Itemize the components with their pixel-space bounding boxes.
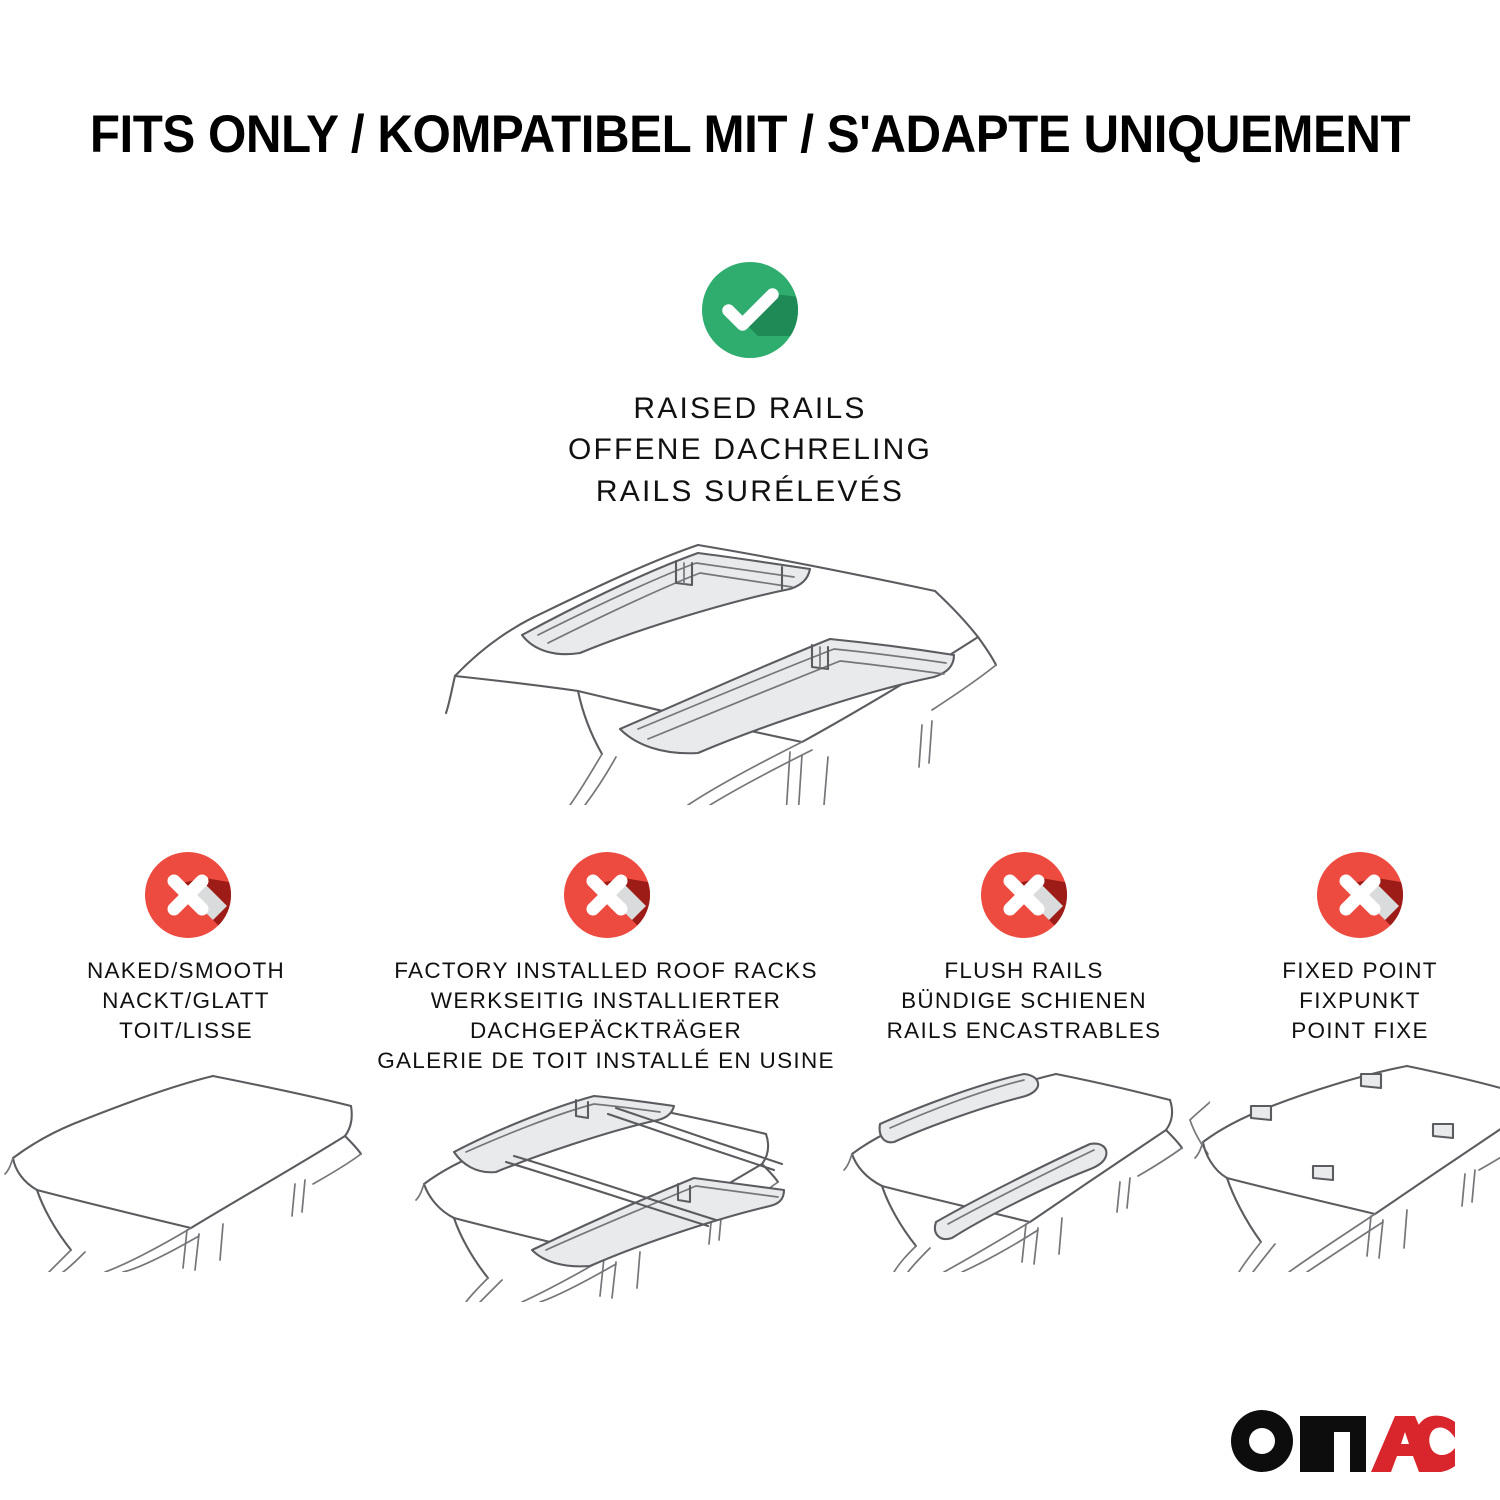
cross-circle-icon xyxy=(560,848,654,942)
label-en: FACTORY INSTALLED ROOF RACKS xyxy=(377,956,835,986)
car-roof-naked-smooth-illustration xyxy=(1,1062,371,1272)
car-roof-with-raised-rails-illustration xyxy=(430,505,1070,805)
page-title: FITS ONLY / KOMPATIBEL MIT / S'ADAPTE UN… xyxy=(53,104,1448,165)
label-de-2: DACHGEPÄCKTRÄGER xyxy=(377,1016,835,1046)
car-roof-fixed-point-illustration xyxy=(1193,1062,1500,1272)
label-fr: RAILS ENCASTRABLES xyxy=(887,1016,1162,1046)
not-supported-cell-flush-rails: FLUSH RAILS BÜNDIGE SCHIENEN RAILS ENCAS… xyxy=(844,848,1204,1272)
cross-circle-icon xyxy=(977,848,1071,942)
not-supported-cell-naked-smooth: NAKED/SMOOTH NACKT/GLATT TOIT/LISSE xyxy=(0,848,372,1272)
label-fr: POINT FIXE xyxy=(1282,1016,1438,1046)
approved-section: RAISED RAILS OFFENE DACHRELING RAILS SUR… xyxy=(0,258,1500,512)
label-en: NAKED/SMOOTH xyxy=(87,956,285,986)
cell-labels: FACTORY INSTALLED ROOF RACKS WERKSEITIG … xyxy=(377,956,835,1076)
not-supported-grid: NAKED/SMOOTH NACKT/GLATT TOIT/LISSE xyxy=(0,848,1500,1302)
approved-label-de: OFFENE DACHRELING xyxy=(568,429,932,470)
label-fr: GALERIE DE TOIT INSTALLÉ EN USINE xyxy=(377,1046,835,1076)
check-circle-icon xyxy=(698,258,802,362)
fitment-infographic: FITS ONLY / KOMPATIBEL MIT / S'ADAPTE UN… xyxy=(0,0,1500,1500)
label-fr: TOIT/LISSE xyxy=(87,1016,285,1046)
logo-letter-o xyxy=(1231,1410,1293,1472)
label-de-1: WERKSEITIG INSTALLIERTER xyxy=(377,986,835,1016)
cell-labels: FLUSH RAILS BÜNDIGE SCHIENEN RAILS ENCAS… xyxy=(887,956,1162,1046)
label-de: BÜNDIGE SCHIENEN xyxy=(887,986,1162,1016)
cell-labels: FIXED POINT FIXPUNKT POINT FIXE xyxy=(1282,956,1438,1046)
car-roof-factory-installed-rack-illustration xyxy=(410,1092,802,1302)
approved-label-en: RAISED RAILS xyxy=(568,388,932,429)
logo-letter-m xyxy=(1300,1416,1366,1472)
car-roof-flush-rails-illustration xyxy=(838,1062,1210,1272)
label-de: NACKT/GLATT xyxy=(87,986,285,1016)
label-de: FIXPUNKT xyxy=(1282,986,1438,1016)
not-supported-cell-fixed-point: FIXED POINT FIXPUNKT POINT FIXE xyxy=(1224,848,1496,1272)
cell-labels: NAKED/SMOOTH NACKT/GLATT TOIT/LISSE xyxy=(87,956,285,1046)
approved-illustration-row xyxy=(0,505,1500,805)
approved-labels: RAISED RAILS OFFENE DACHRELING RAILS SUR… xyxy=(568,388,932,512)
label-en: FIXED POINT xyxy=(1282,956,1438,986)
brand-logo-omac xyxy=(1229,1408,1455,1472)
cross-circle-icon xyxy=(141,848,235,942)
label-en: FLUSH RAILS xyxy=(887,956,1162,986)
cross-circle-icon xyxy=(1313,848,1407,942)
logo-letter-c xyxy=(1414,1416,1456,1472)
not-supported-cell-factory-rack: FACTORY INSTALLED ROOF RACKS WERKSEITIG … xyxy=(396,848,816,1302)
